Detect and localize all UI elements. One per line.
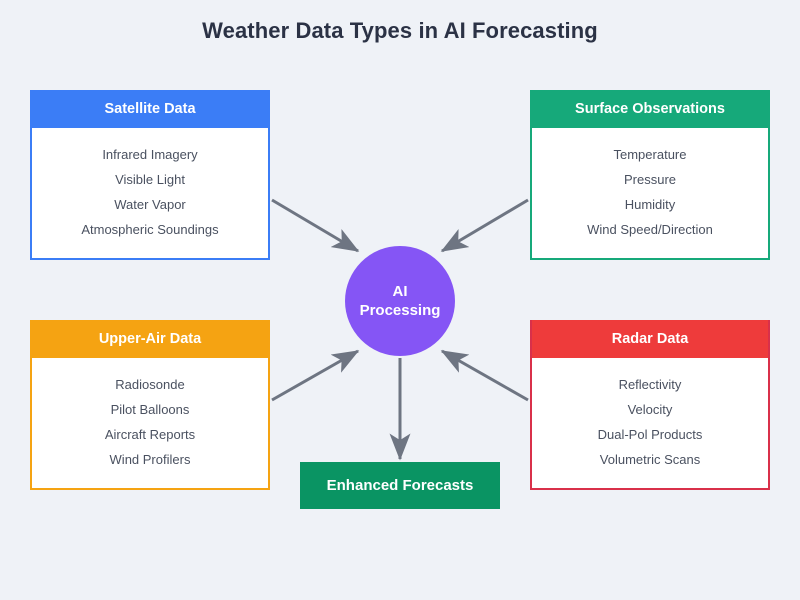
card-radar-data[interactable]: Radar Data Reflectivity Velocity Dual-Po… xyxy=(530,320,770,490)
list-item: Atmospheric Soundings xyxy=(38,217,262,242)
connector-radar-to-hub xyxy=(442,351,528,400)
list-item: Dual-Pol Products xyxy=(538,422,762,447)
card-body-satellite-data: Infrared Imagery Visible Light Water Vap… xyxy=(32,128,268,258)
connector-upperair-to-hub xyxy=(272,351,358,400)
card-body-surface-observations: Temperature Pressure Humidity Wind Speed… xyxy=(532,128,768,258)
list-item: Wind Speed/Direction xyxy=(538,217,762,242)
list-item: Visible Light xyxy=(38,167,262,192)
card-title-satellite-data: Satellite Data xyxy=(32,90,268,128)
list-item: Velocity xyxy=(538,397,762,422)
list-item: Aircraft Reports xyxy=(38,422,262,447)
node-ai-processing[interactable]: AI Processing xyxy=(345,246,455,356)
list-item: Radiosonde xyxy=(38,372,262,397)
list-item: Infrared Imagery xyxy=(38,142,262,167)
card-satellite-data[interactable]: Satellite Data Infrared Imagery Visible … xyxy=(30,90,270,260)
card-body-upper-air-data: Radiosonde Pilot Balloons Aircraft Repor… xyxy=(32,358,268,488)
card-title-radar-data: Radar Data xyxy=(532,320,768,358)
hub-label-line1: AI xyxy=(360,282,441,301)
list-item: Reflectivity xyxy=(538,372,762,397)
card-upper-air-data[interactable]: Upper-Air Data Radiosonde Pilot Balloons… xyxy=(30,320,270,490)
card-surface-observations[interactable]: Surface Observations Temperature Pressur… xyxy=(530,90,770,260)
card-title-upper-air-data: Upper-Air Data xyxy=(32,320,268,358)
list-item: Pilot Balloons xyxy=(38,397,262,422)
list-item: Wind Profilers xyxy=(38,447,262,472)
diagram-canvas: Weather Data Types in AI Forecasting Sat… xyxy=(0,0,800,600)
connector-satellite-to-hub xyxy=(272,200,358,251)
list-item: Volumetric Scans xyxy=(538,447,762,472)
list-item: Humidity xyxy=(538,192,762,217)
node-enhanced-forecasts[interactable]: Enhanced Forecasts xyxy=(300,462,500,509)
list-item: Water Vapor xyxy=(38,192,262,217)
card-title-surface-observations: Surface Observations xyxy=(532,90,768,128)
output-label: Enhanced Forecasts xyxy=(327,477,474,494)
page-title: Weather Data Types in AI Forecasting xyxy=(0,18,800,44)
hub-label: AI Processing xyxy=(360,282,441,320)
list-item: Pressure xyxy=(538,167,762,192)
card-body-radar-data: Reflectivity Velocity Dual-Pol Products … xyxy=(532,358,768,488)
connector-surface-to-hub xyxy=(442,200,528,251)
hub-label-line2: Processing xyxy=(360,301,441,320)
list-item: Temperature xyxy=(538,142,762,167)
